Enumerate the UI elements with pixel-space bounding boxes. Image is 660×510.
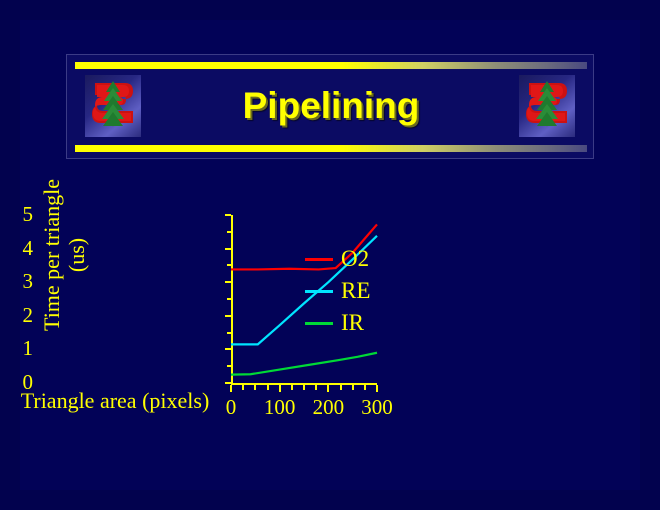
legend-swatch-icon (305, 258, 333, 261)
y-tick-label: 1 (7, 338, 33, 359)
x-tick (315, 385, 317, 390)
x-tick (376, 385, 378, 392)
legend-label: IR (341, 309, 364, 337)
slide-stage: Pipelining (20, 20, 640, 490)
legend-swatch-icon (305, 290, 333, 293)
y-axis-title: Time per triangle (us) (39, 145, 89, 365)
y-tick-label: 5 (7, 204, 33, 225)
legend-item-o2[interactable]: O2 (305, 245, 425, 277)
title-banner: Pipelining (66, 54, 594, 159)
x-tick (279, 385, 281, 392)
series-line-ir (231, 353, 377, 375)
legend-swatch-icon (305, 322, 333, 325)
y-tick-label: 4 (7, 238, 33, 259)
x-tick (327, 385, 329, 392)
y-tick-label: 3 (7, 271, 33, 292)
page-title: Pipelining (67, 85, 595, 127)
legend-item-re[interactable]: RE (305, 277, 425, 309)
legend-item-ir[interactable]: IR (305, 309, 425, 341)
y-axis-title-line2: (us) (64, 145, 89, 365)
legend-label: O2 (341, 245, 369, 273)
x-tick-label: 200 (303, 397, 353, 418)
x-tick (352, 385, 354, 390)
x-tick (291, 385, 293, 390)
performance-line-chart: Time per triangle (us) 012345 0100200300… (40, 170, 620, 480)
x-tick (303, 385, 305, 390)
slide-canvas: Pipelining (0, 0, 660, 510)
stanford-tree-logo-icon (519, 75, 575, 137)
chart-legend: O2REIR (305, 245, 425, 341)
banner-rule-top (75, 62, 587, 69)
legend-label: RE (341, 277, 370, 305)
x-tick (364, 385, 366, 390)
x-tick (340, 385, 342, 390)
y-axis-title-line1: Time per triangle (39, 145, 64, 365)
x-axis-title: Triangle area (pixels) (0, 388, 270, 414)
x-tick-label: 300 (352, 397, 402, 418)
banner-rule-bottom (75, 145, 587, 152)
y-tick-label: 2 (7, 305, 33, 326)
